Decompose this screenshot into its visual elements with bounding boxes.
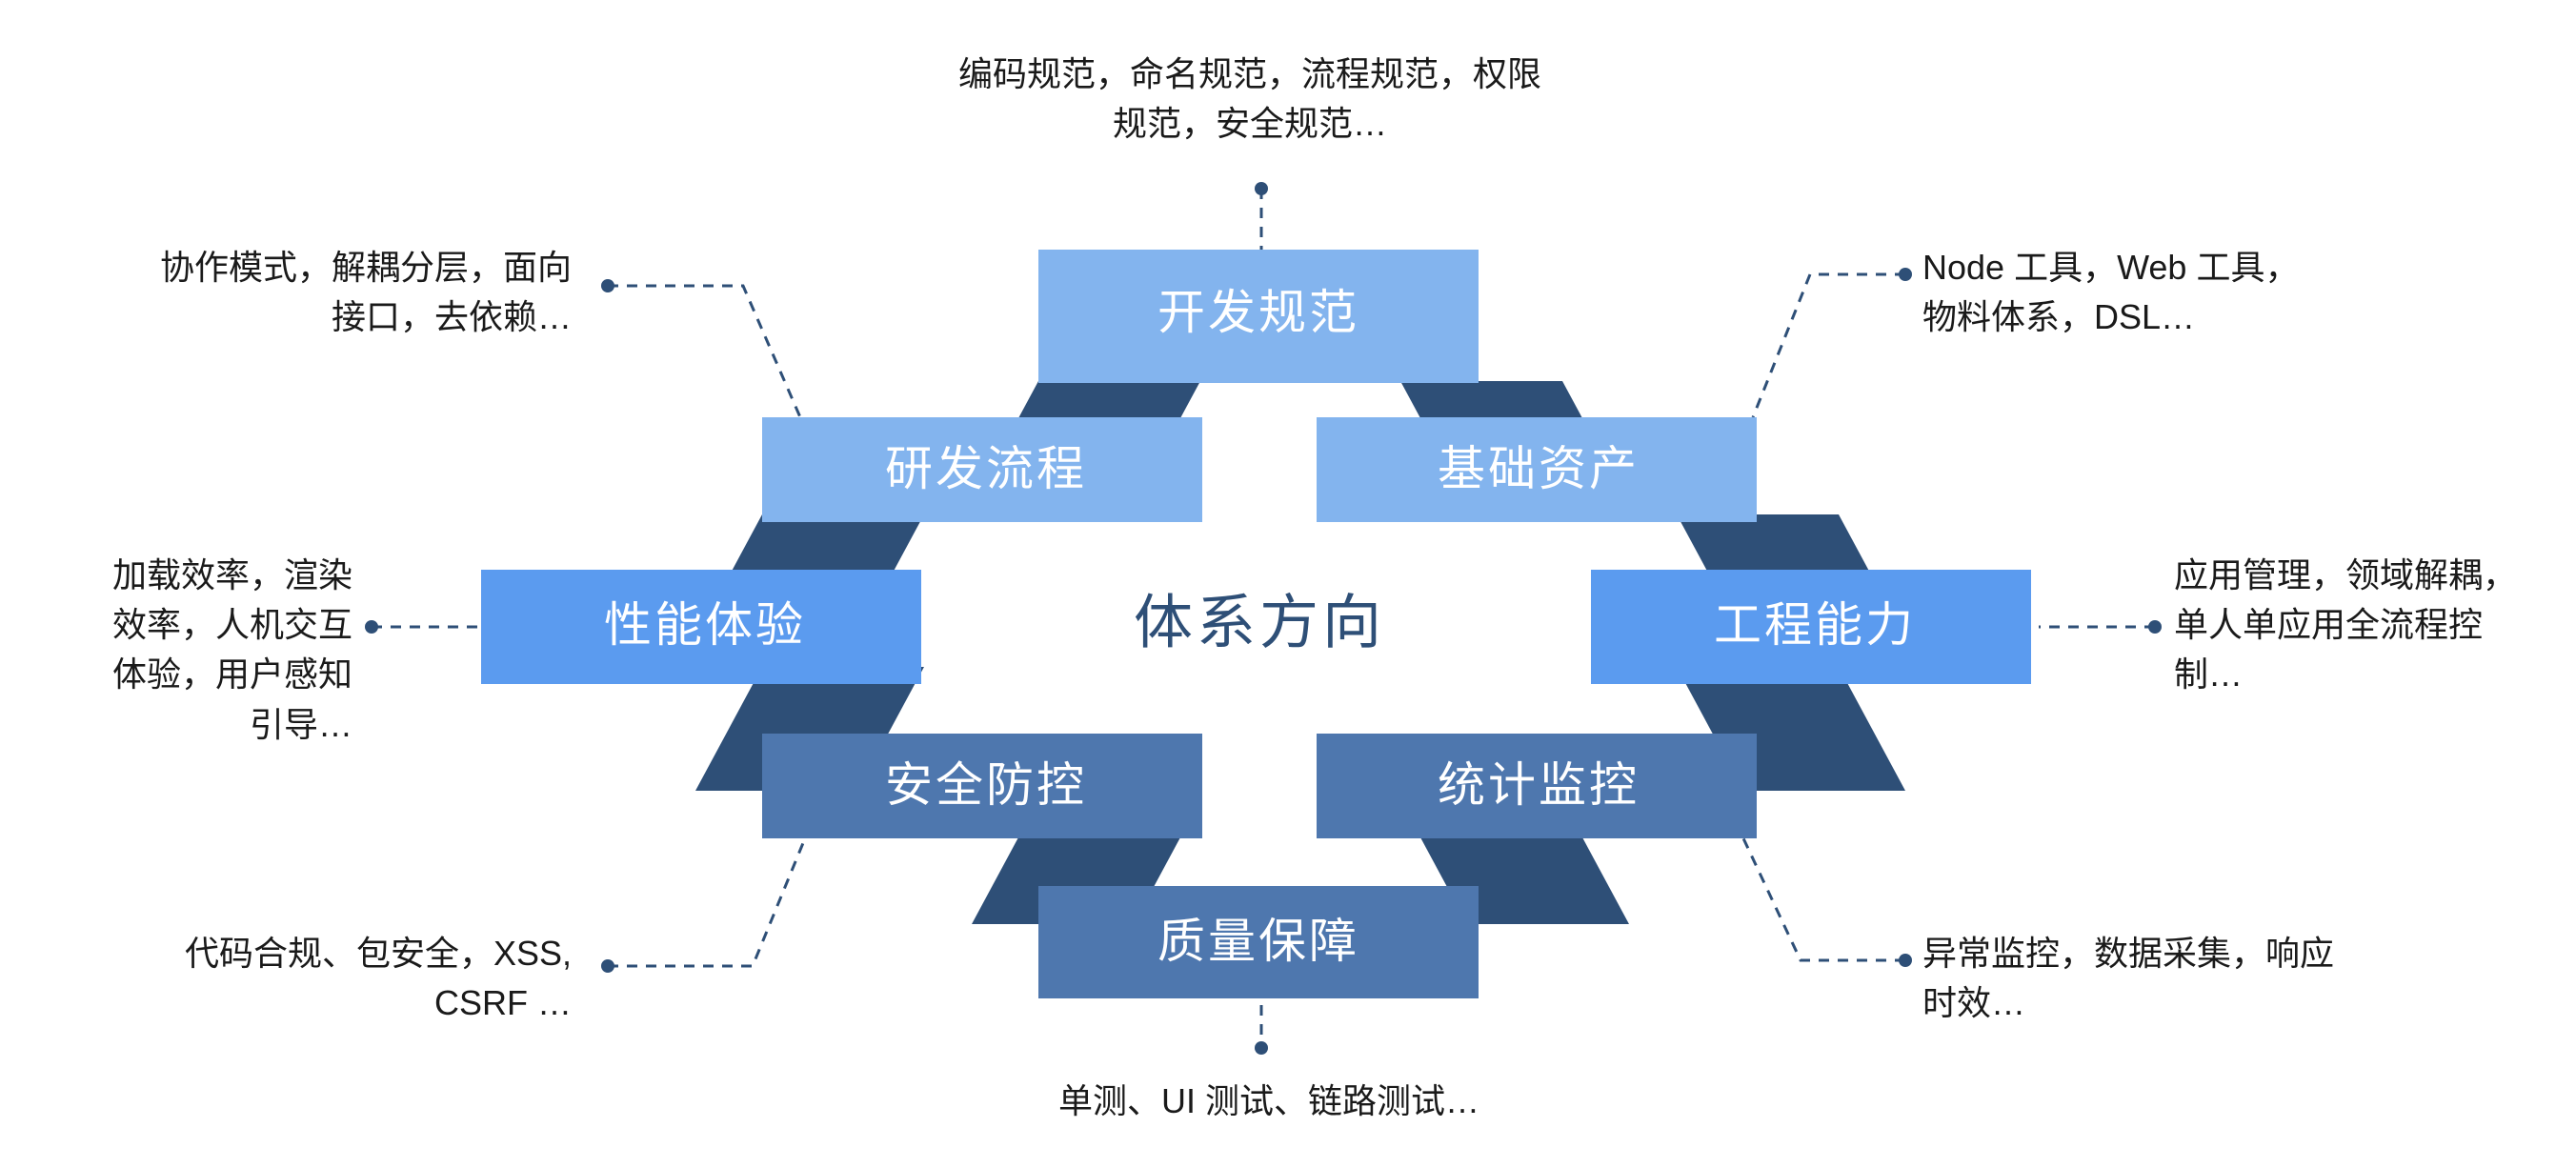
dot-monitoring (1899, 954, 1912, 967)
band-dev-spec[interactable]: 开发规范 (1038, 250, 1479, 383)
dot-perf-exp (365, 620, 378, 634)
band-dev-spec-label: 开发规范 (1157, 286, 1359, 339)
band-rd-process-label: 研发流程 (885, 442, 1087, 495)
dot-dev-spec (1255, 182, 1268, 195)
annotation-perf-exp: 加载效率，渲染 效率，人机交互 体验，用户感知 引导… (38, 551, 352, 750)
annotation-dev-spec: 编码规范，命名规范，流程规范，权限 规范，安全规范… (907, 50, 1593, 149)
annotation-security: 代码合规、包安全，XSS, CSRF … (95, 929, 572, 1028)
band-perf-exp[interactable]: 性能体验 (481, 570, 921, 684)
dot-rd-process (601, 279, 614, 292)
dot-eng-ability (2148, 620, 2162, 634)
center-label: 体系方向 (1134, 590, 1385, 655)
band-monitoring[interactable]: 统计监控 (1317, 734, 1757, 838)
connector-rd-process (608, 286, 800, 417)
band-eng-ability-label: 工程能力 (1714, 598, 1916, 652)
band-eng-ability[interactable]: 工程能力 (1591, 570, 2031, 684)
band-security-label: 安全防控 (885, 758, 1087, 812)
annotation-rd-process: 协作模式，解耦分层，面向 接口，去依赖… (76, 243, 572, 342)
band-rd-process[interactable]: 研发流程 (762, 417, 1202, 522)
band-base-assets[interactable]: 基础资产 (1317, 417, 1757, 522)
dot-security (601, 959, 614, 973)
band-base-assets-label: 基础资产 (1438, 442, 1640, 495)
band-security[interactable]: 安全防控 (762, 734, 1202, 838)
diagram-canvas: 开发规范 研发流程 基础资产 性能体验 工程能力 安全防控 (0, 0, 2576, 1168)
band-quality-label: 质量保障 (1157, 915, 1359, 968)
connector-monitoring (1743, 838, 1905, 960)
band-monitoring-label: 统计监控 (1438, 758, 1640, 812)
band-perf-exp-label: 性能体验 (604, 598, 806, 652)
connector-security (608, 838, 805, 966)
band-quality[interactable]: 质量保障 (1038, 886, 1479, 998)
annotation-quality: 单测、UI 测试、链路测试… (974, 1077, 1564, 1126)
annotation-eng-ability: 应用管理，领域解耦， 单人单应用全流程控 制… (2174, 551, 2536, 700)
annotation-monitoring: 异常监控，数据采集，响应 时效… (1922, 929, 2370, 1028)
annotation-base-assets: Node 工具，Web 工具， 物料体系，DSL… (1922, 243, 2370, 342)
dot-quality (1255, 1041, 1268, 1055)
dot-base-assets (1899, 268, 1912, 281)
connector-base-assets (1753, 274, 1905, 417)
